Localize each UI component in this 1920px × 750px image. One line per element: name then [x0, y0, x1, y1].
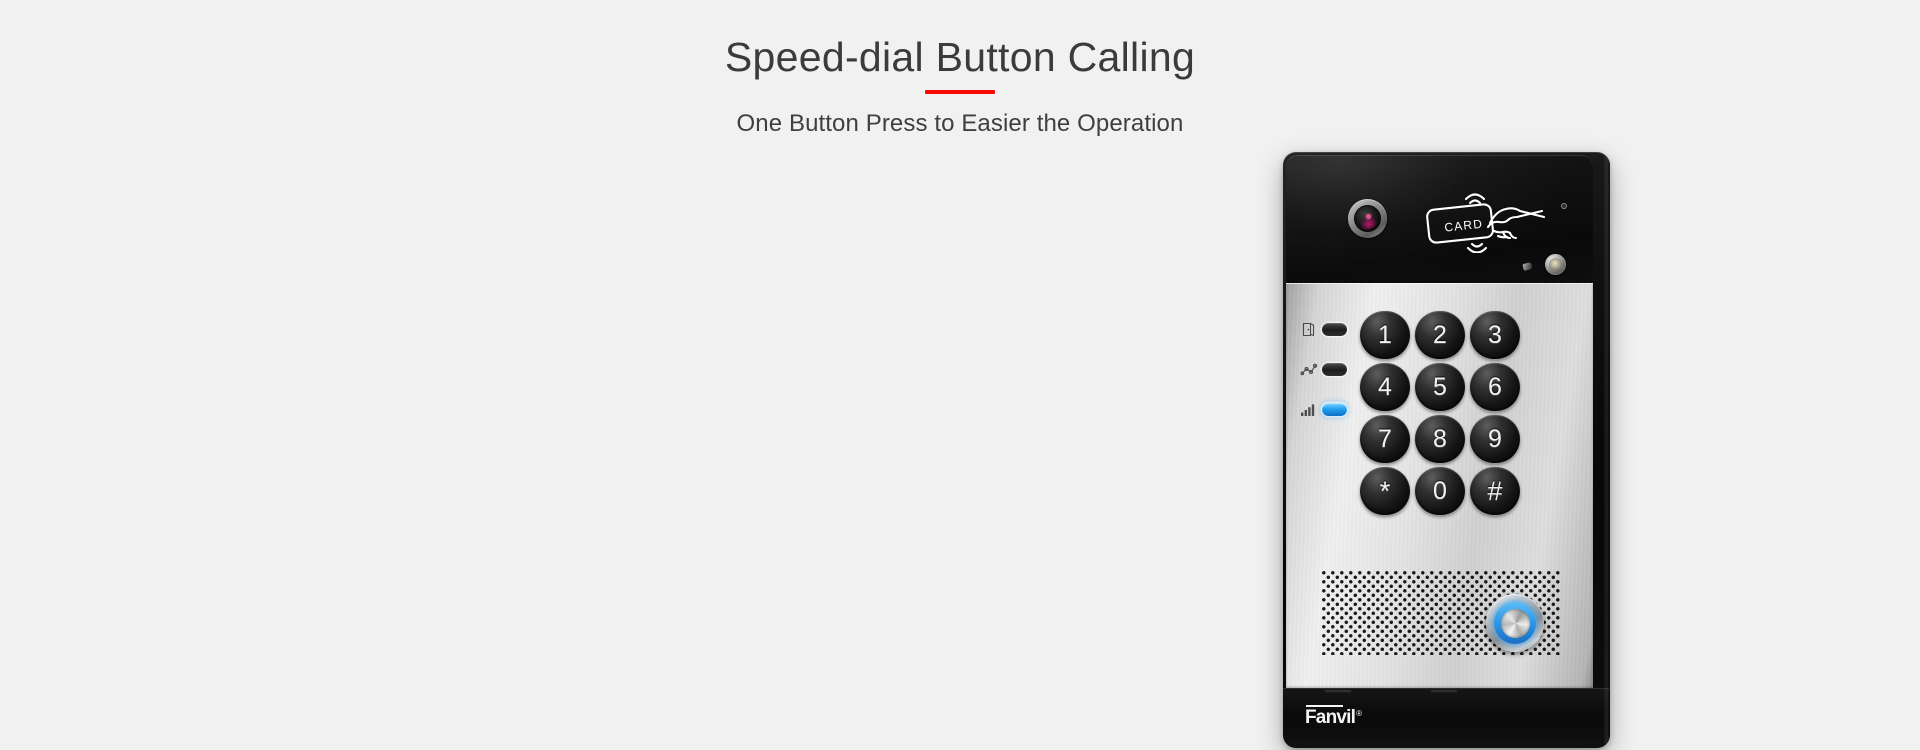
rfid-card-icon: CARD	[1424, 191, 1546, 253]
page-title: Speed-dial Button Calling	[0, 34, 1920, 81]
speed-dial-core	[1501, 609, 1530, 638]
title-accent-rule	[925, 90, 995, 94]
speed-dial-button[interactable]	[1486, 594, 1544, 652]
light-sensor-icon	[1522, 262, 1532, 271]
indicator-dot-icon	[1561, 203, 1567, 209]
camera-icon	[1348, 199, 1387, 238]
keypad-key-1[interactable]: 1	[1360, 311, 1410, 359]
keypad-key-6[interactable]: 6	[1470, 363, 1520, 411]
keypad-key-9[interactable]: 9	[1470, 415, 1520, 463]
brand-logo: Fanvil®	[1305, 708, 1361, 727]
keypad-key-0[interactable]: 0	[1415, 467, 1465, 515]
keypad-key-3[interactable]: 3	[1470, 311, 1520, 359]
keypad-key-4[interactable]: 4	[1360, 363, 1410, 411]
led-signal	[1322, 403, 1347, 416]
mount-notch-left	[1325, 690, 1351, 694]
page-subtitle: One Button Press to Easier the Operation	[0, 110, 1920, 138]
speed-dial-ring	[1494, 602, 1536, 644]
registered-mark: ®	[1356, 709, 1361, 718]
brand-logo-text: Fanvil	[1305, 707, 1355, 728]
signal-bars-icon	[1300, 401, 1317, 418]
network-link-icon	[1300, 361, 1317, 378]
page-header: Speed-dial Button Calling One Button Pre…	[0, 0, 1920, 138]
product-image-door-phone: CARD	[1283, 152, 1610, 748]
keypad-key-8[interactable]: 8	[1415, 415, 1465, 463]
keypad-key-2[interactable]: 2	[1415, 311, 1465, 359]
device-glass-panel: CARD	[1286, 155, 1593, 283]
status-indicator-network	[1300, 359, 1354, 380]
keypad-key-star[interactable]: *	[1360, 467, 1410, 515]
mount-notch-right	[1431, 690, 1457, 694]
device-bottom-bar: Fanvil®	[1283, 688, 1610, 748]
card-label: CARD	[1444, 217, 1484, 235]
status-indicator-signal	[1300, 399, 1354, 420]
keypad-key-hash[interactable]: #	[1470, 467, 1520, 515]
keypad-key-7[interactable]: 7	[1360, 415, 1410, 463]
device-keypad-panel: 1 2 3 4 5 6 7 8 9 * 0 #	[1286, 283, 1593, 688]
device-body: CARD	[1283, 152, 1610, 748]
keypad-key-5[interactable]: 5	[1415, 363, 1465, 411]
keypad[interactable]: 1 2 3 4 5 6 7 8 9 * 0 #	[1360, 311, 1520, 515]
status-indicator-door	[1300, 319, 1354, 340]
status-indicator-group	[1300, 319, 1354, 439]
led-door	[1322, 323, 1347, 336]
led-network	[1322, 363, 1347, 376]
door-lock-icon	[1300, 321, 1317, 338]
camera-lens	[1354, 205, 1381, 232]
ir-led-icon	[1545, 254, 1566, 275]
